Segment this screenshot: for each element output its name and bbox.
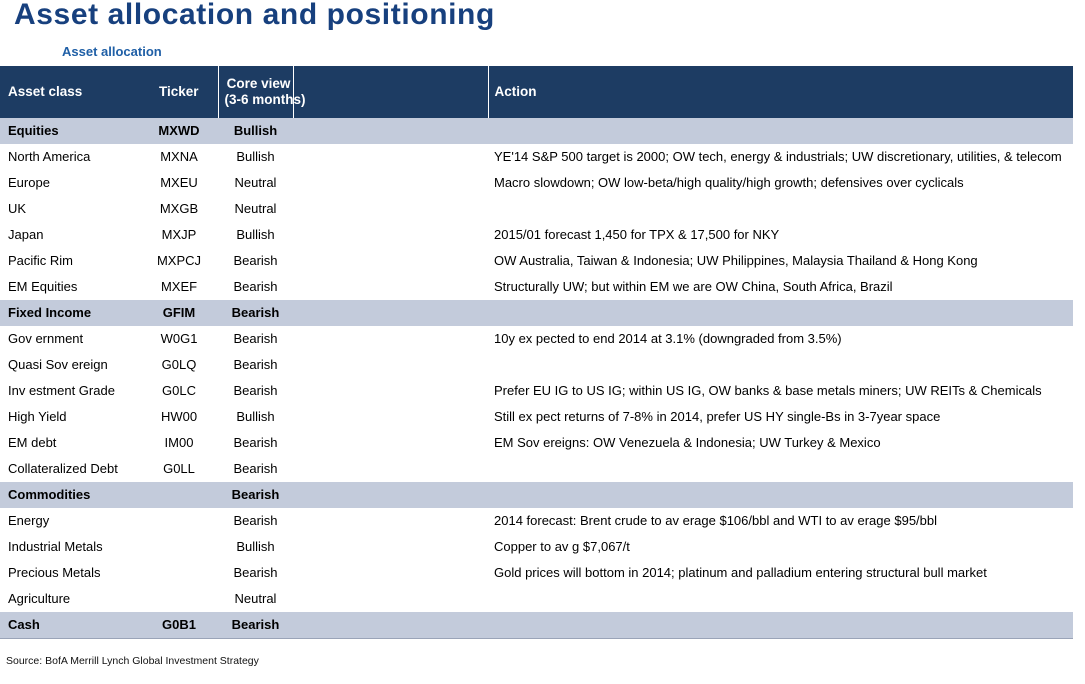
cell-core-view: Bearish	[218, 482, 293, 508]
cell-asset-class: Equities	[0, 118, 140, 144]
cell-asset-class: EM Equities	[0, 274, 140, 300]
cell-spacer	[293, 196, 488, 222]
cell-ticker	[140, 534, 218, 560]
cell-core-view: Bearish	[218, 274, 293, 300]
table-row: Fixed IncomeGFIMBearish	[0, 300, 1073, 326]
cell-action	[488, 586, 1073, 612]
cell-asset-class: Japan	[0, 222, 140, 248]
cell-ticker: W0G1	[140, 326, 218, 352]
cell-ticker: GFIM	[140, 300, 218, 326]
cell-spacer	[293, 274, 488, 300]
table-row: Industrial MetalsBullishCopper to av g $…	[0, 534, 1073, 560]
source-note: Source: BofA Merrill Lynch Global Invest…	[6, 655, 259, 667]
cell-asset-class: UK	[0, 196, 140, 222]
column-header-asset-class: Asset class	[0, 66, 140, 118]
table-row: CommoditiesBearish	[0, 482, 1073, 508]
cell-spacer	[293, 612, 488, 638]
table-row: Inv estment GradeG0LCBearishPrefer EU IG…	[0, 378, 1073, 404]
cell-action: OW Australia, Taiwan & Indonesia; UW Phi…	[488, 248, 1073, 274]
cell-ticker: HW00	[140, 404, 218, 430]
cell-asset-class: Collateralized Debt	[0, 456, 140, 482]
cell-action: YE'14 S&P 500 target is 2000; OW tech, e…	[488, 144, 1073, 170]
cell-spacer	[293, 560, 488, 586]
cell-spacer	[293, 222, 488, 248]
table-bottom-rule	[0, 638, 1073, 639]
cell-spacer	[293, 586, 488, 612]
cell-asset-class: Agriculture	[0, 586, 140, 612]
cell-action: Macro slowdown; OW low-beta/high quality…	[488, 170, 1073, 196]
table-row: UKMXGBNeutral	[0, 196, 1073, 222]
table-row: North AmericaMXNABullishYE'14 S&P 500 ta…	[0, 144, 1073, 170]
table-row: AgricultureNeutral	[0, 586, 1073, 612]
cell-core-view: Neutral	[218, 586, 293, 612]
cell-asset-class: North America	[0, 144, 140, 170]
table-row: EnergyBearish2014 forecast: Brent crude …	[0, 508, 1073, 534]
cell-action: 2014 forecast: Brent crude to av erage $…	[488, 508, 1073, 534]
table-row: CashG0B1Bearish	[0, 612, 1073, 638]
cell-core-view: Bullish	[218, 144, 293, 170]
cell-spacer	[293, 482, 488, 508]
cell-core-view: Bullish	[218, 222, 293, 248]
table-row: JapanMXJPBullish2015/01 forecast 1,450 f…	[0, 222, 1073, 248]
cell-core-view: Neutral	[218, 196, 293, 222]
cell-ticker: MXWD	[140, 118, 218, 144]
cell-spacer	[293, 508, 488, 534]
cell-asset-class: Pacific Rim	[0, 248, 140, 274]
table-row: EM EquitiesMXEFBearishStructurally UW; b…	[0, 274, 1073, 300]
table-row: EuropeMXEUNeutralMacro slowdown; OW low-…	[0, 170, 1073, 196]
table-header: Asset class Ticker Core view (3-6 months…	[0, 66, 1073, 118]
cell-ticker: G0LL	[140, 456, 218, 482]
cell-asset-class: Europe	[0, 170, 140, 196]
cell-spacer	[293, 144, 488, 170]
cell-asset-class: Energy	[0, 508, 140, 534]
cell-ticker: MXNA	[140, 144, 218, 170]
cell-ticker: G0LC	[140, 378, 218, 404]
cell-spacer	[293, 456, 488, 482]
cell-core-view: Bearish	[218, 378, 293, 404]
cell-spacer	[293, 118, 488, 144]
cell-action: Copper to av g $7,067/t	[488, 534, 1073, 560]
cell-action	[488, 456, 1073, 482]
cell-ticker: MXGB	[140, 196, 218, 222]
table-header-row: Asset class Ticker Core view (3-6 months…	[0, 66, 1073, 118]
cell-action: Structurally UW; but within EM we are OW…	[488, 274, 1073, 300]
cell-core-view: Bullish	[218, 404, 293, 430]
cell-ticker: MXJP	[140, 222, 218, 248]
cell-spacer	[293, 170, 488, 196]
cell-spacer	[293, 300, 488, 326]
column-header-core-view: Core view (3-6 months)	[218, 66, 293, 118]
cell-asset-class: Gov ernment	[0, 326, 140, 352]
cell-action: Gold prices will bottom in 2014; platinu…	[488, 560, 1073, 586]
cell-ticker	[140, 482, 218, 508]
cell-action	[488, 300, 1073, 326]
cell-asset-class: Fixed Income	[0, 300, 140, 326]
table-row: Pacific RimMXPCJBearishOW Australia, Tai…	[0, 248, 1073, 274]
cell-action: Prefer EU IG to US IG; within US IG, OW …	[488, 378, 1073, 404]
table-row: Gov ernmentW0G1Bearish10y ex pected to e…	[0, 326, 1073, 352]
table-row: EM debtIM00BearishEM Sov ereigns: OW Ven…	[0, 430, 1073, 456]
cell-ticker: G0LQ	[140, 352, 218, 378]
cell-action	[488, 118, 1073, 144]
table-row: High YieldHW00BullishStill ex pect retur…	[0, 404, 1073, 430]
cell-asset-class: Commodities	[0, 482, 140, 508]
table-body: EquitiesMXWDBullishNorth AmericaMXNABull…	[0, 118, 1073, 638]
cell-action	[488, 196, 1073, 222]
cell-core-view: Bullish	[218, 534, 293, 560]
cell-asset-class: EM debt	[0, 430, 140, 456]
cell-spacer	[293, 248, 488, 274]
column-header-action: Action	[488, 66, 1073, 118]
cell-ticker	[140, 586, 218, 612]
cell-action	[488, 612, 1073, 638]
cell-action	[488, 352, 1073, 378]
table-row: Collateralized DebtG0LLBearish	[0, 456, 1073, 482]
table-row: EquitiesMXWDBullish	[0, 118, 1073, 144]
cell-action: 10y ex pected to end 2014 at 3.1% (downg…	[488, 326, 1073, 352]
cell-ticker: IM00	[140, 430, 218, 456]
table-row: Precious MetalsBearishGold prices will b…	[0, 560, 1073, 586]
column-header-core-view-line1: Core view	[227, 76, 291, 91]
cell-ticker: MXEF	[140, 274, 218, 300]
cell-spacer	[293, 352, 488, 378]
cell-spacer	[293, 326, 488, 352]
page-title: Asset allocation and positioning	[14, 0, 495, 32]
cell-core-view: Bearish	[218, 352, 293, 378]
cell-asset-class: Precious Metals	[0, 560, 140, 586]
cell-asset-class: Cash	[0, 612, 140, 638]
cell-action: Still ex pect returns of 7-8% in 2014, p…	[488, 404, 1073, 430]
cell-core-view: Bearish	[218, 456, 293, 482]
cell-core-view: Bearish	[218, 300, 293, 326]
cell-asset-class: Inv estment Grade	[0, 378, 140, 404]
cell-asset-class: Industrial Metals	[0, 534, 140, 560]
cell-spacer	[293, 430, 488, 456]
column-header-ticker: Ticker	[140, 66, 218, 118]
table-subtitle: Asset allocation	[62, 44, 162, 59]
cell-asset-class: High Yield	[0, 404, 140, 430]
table-row: Quasi Sov ereignG0LQBearish	[0, 352, 1073, 378]
cell-asset-class: Quasi Sov ereign	[0, 352, 140, 378]
cell-ticker: G0B1	[140, 612, 218, 638]
column-header-core-view-line2: (3-6 months)	[225, 92, 293, 108]
cell-spacer	[293, 534, 488, 560]
cell-spacer	[293, 404, 488, 430]
cell-ticker	[140, 508, 218, 534]
cell-core-view: Bearish	[218, 508, 293, 534]
cell-action	[488, 482, 1073, 508]
cell-core-view: Bearish	[218, 430, 293, 456]
cell-action: EM Sov ereigns: OW Venezuela & Indonesia…	[488, 430, 1073, 456]
cell-ticker: MXPCJ	[140, 248, 218, 274]
cell-core-view: Bullish	[218, 118, 293, 144]
cell-core-view: Bearish	[218, 326, 293, 352]
cell-core-view: Bearish	[218, 560, 293, 586]
cell-action: 2015/01 forecast 1,450 for TPX & 17,500 …	[488, 222, 1073, 248]
cell-ticker	[140, 560, 218, 586]
cell-core-view: Bearish	[218, 248, 293, 274]
asset-allocation-table: Asset class Ticker Core view (3-6 months…	[0, 66, 1073, 638]
cell-core-view: Bearish	[218, 612, 293, 638]
asset-allocation-table-wrapper: Asset class Ticker Core view (3-6 months…	[0, 66, 1073, 639]
column-header-spacer	[293, 66, 488, 118]
cell-ticker: MXEU	[140, 170, 218, 196]
cell-spacer	[293, 378, 488, 404]
cell-core-view: Neutral	[218, 170, 293, 196]
